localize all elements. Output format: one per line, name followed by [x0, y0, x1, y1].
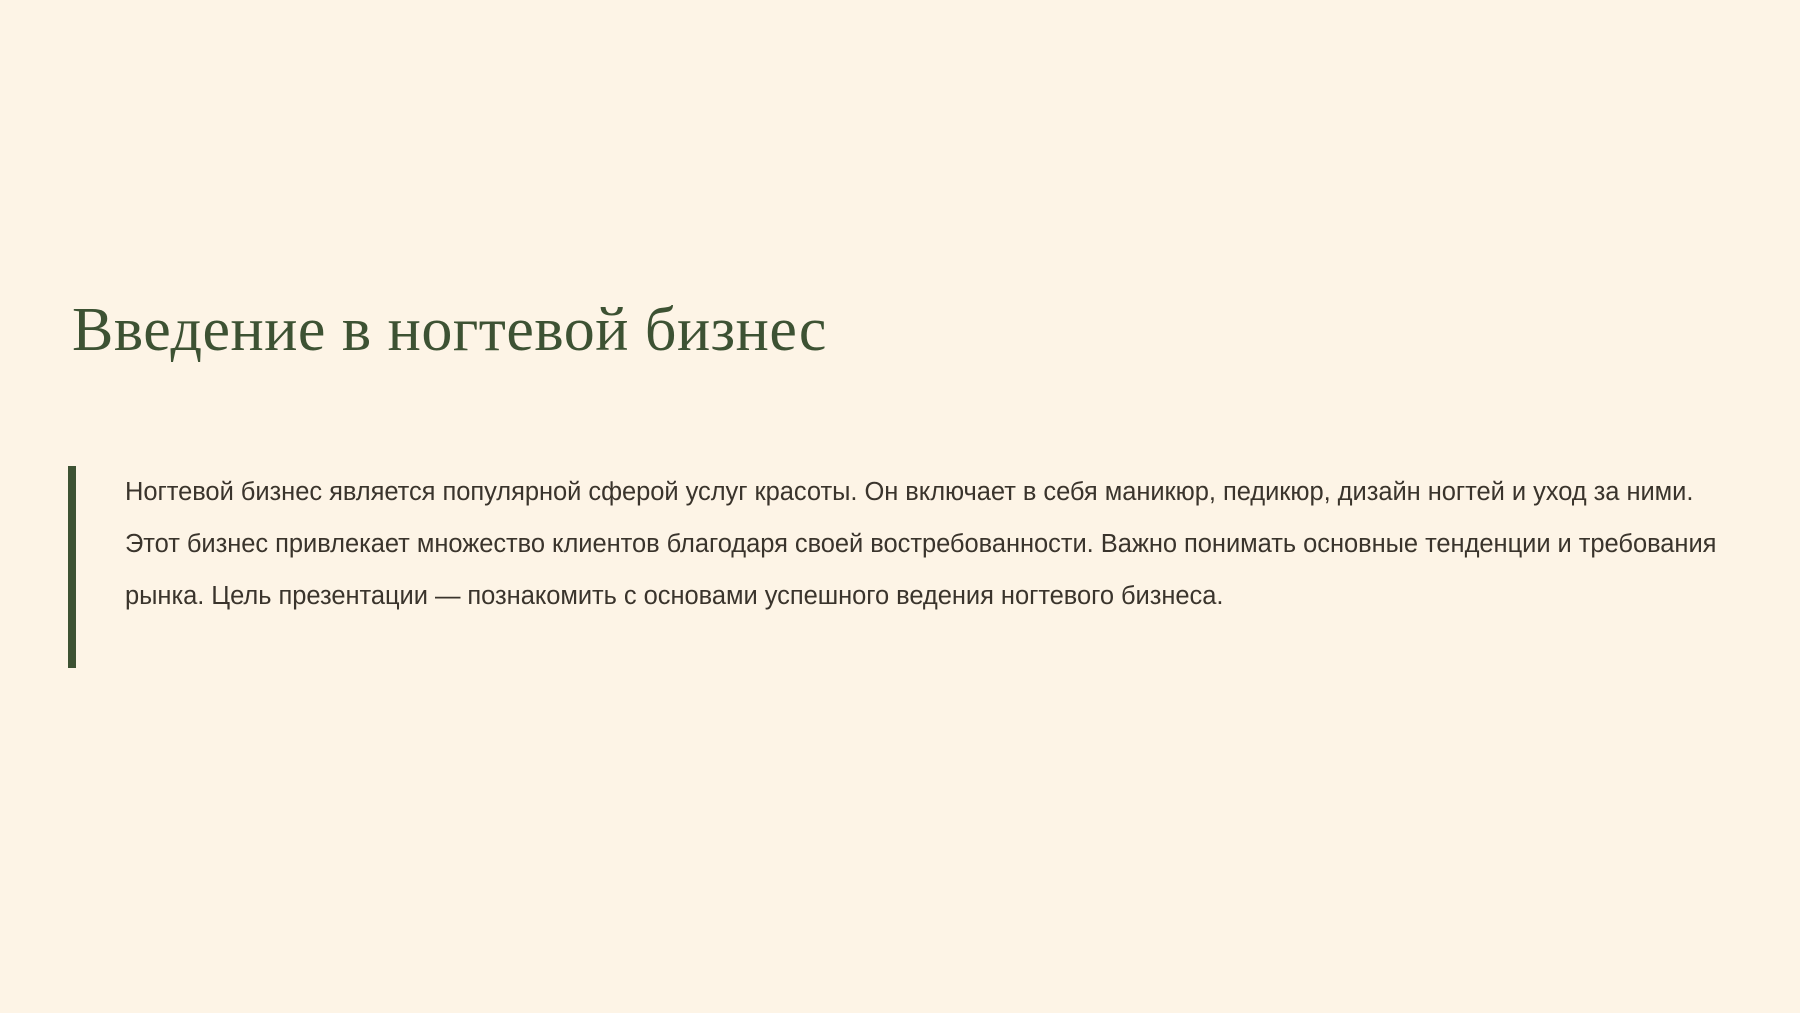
body-paragraph: Ногтевой бизнес является популярной сфер… [76, 466, 1728, 668]
page-title: Введение в ногтевой бизнес [72, 296, 1692, 365]
presentation-slide: Введение в ногтевой бизнес Ногтевой бизн… [0, 0, 1800, 1013]
body-callout: Ногтевой бизнес является популярной сфер… [68, 466, 1728, 668]
accent-bar [68, 466, 76, 668]
